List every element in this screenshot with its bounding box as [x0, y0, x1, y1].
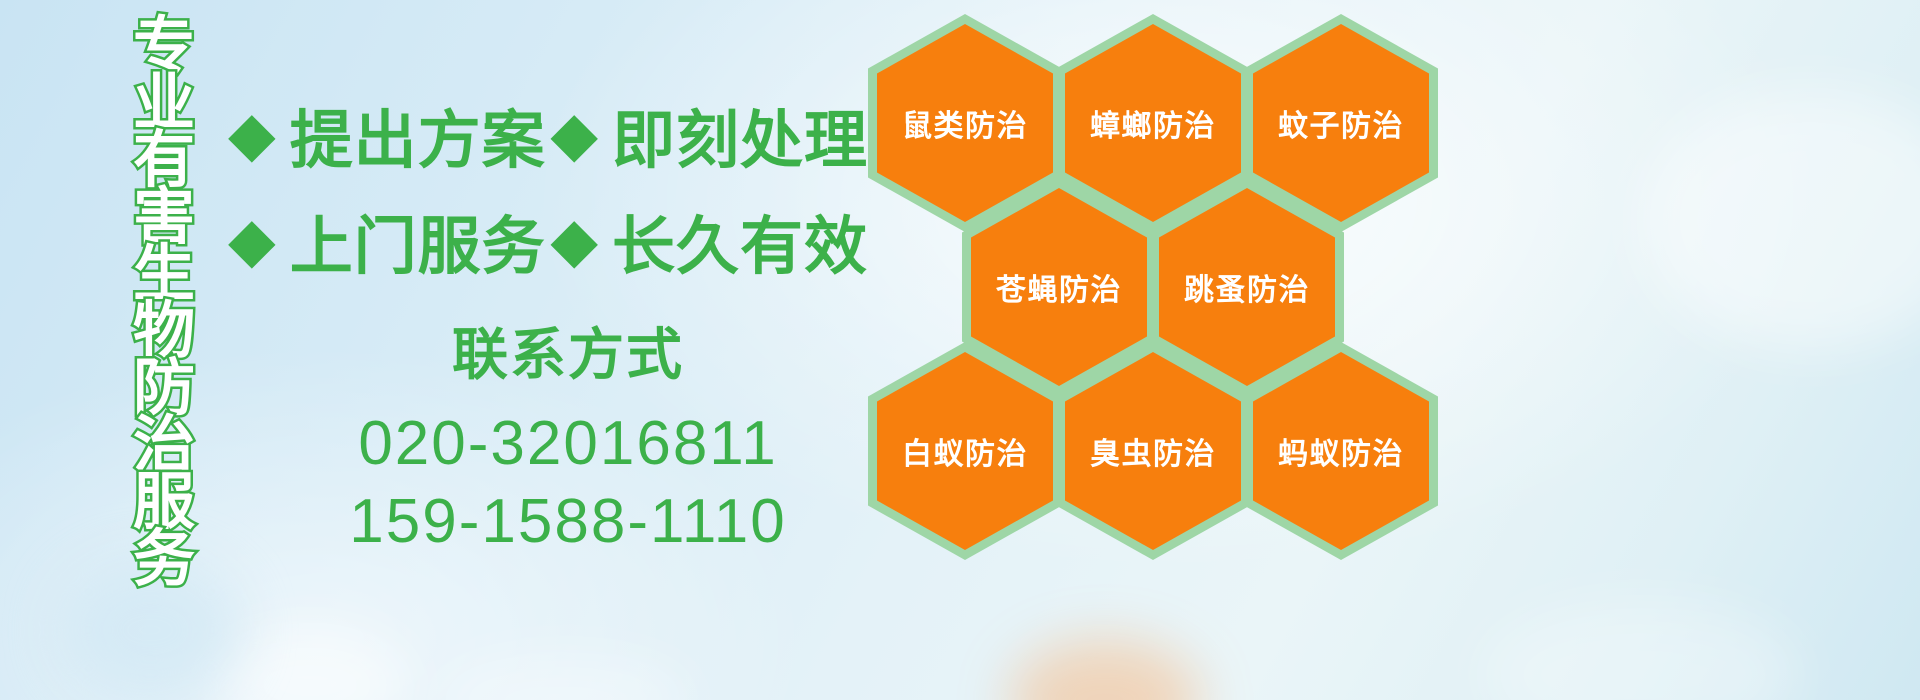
background-bokeh-blob [1010, 640, 1200, 700]
hex-label: 蚂蚁防治 [1278, 429, 1404, 473]
hex-inner: 臭虫防治 [1065, 352, 1241, 550]
hex-label: 蟑螂防治 [1090, 101, 1216, 145]
background-bokeh-blob [1480, 600, 1800, 700]
hex-label: 白蚁防治 [902, 429, 1028, 473]
diamond-icon: ◆ [228, 104, 276, 166]
hex-inner: 蚂蚁防治 [1253, 352, 1429, 550]
feature-label: 即刻处理 [612, 90, 868, 181]
hex-inner: 鼠类防治 [877, 24, 1053, 222]
contact-phone-landline[interactable]: 020-32016811 [268, 405, 868, 483]
hex-label: 蚊子防治 [1278, 101, 1404, 145]
vertical-slogan-char: 业 [133, 75, 195, 132]
feature-row: ◆ 上门服务 ◆ 长久有效 [228, 188, 868, 294]
contact-block: 联系方式 020-32016811 159-1588-1110 [268, 310, 868, 560]
vertical-slogan-char: 生 [133, 246, 195, 303]
hex-inner: 白蚁防治 [877, 352, 1053, 550]
service-hexagon-grid: 鼠类防治 蟑螂防治 蚊子防治 苍蝇防治 跳蚤防治 白蚁防治 [860, 6, 1450, 548]
background-bokeh-blob [210, 630, 410, 700]
background-bokeh-blob [430, 655, 690, 700]
hex-inner: 蚊子防治 [1253, 24, 1429, 222]
vertical-slogan-char: 有 [133, 132, 195, 189]
feature-row: ◆ 提出方案 ◆ 即刻处理 [228, 82, 868, 188]
feature-item-propose-plan: ◆ 提出方案 [228, 90, 546, 181]
hex-label: 苍蝇防治 [996, 265, 1122, 309]
contact-title: 联系方式 [268, 310, 868, 391]
hex-label: 鼠类防治 [902, 101, 1028, 145]
hex-label: 臭虫防治 [1090, 429, 1216, 473]
feature-item-door-to-door-service: ◆ 上门服务 [228, 196, 546, 287]
vertical-slogan-char: 服 [133, 474, 195, 531]
feature-label: 上门服务 [290, 196, 546, 287]
feature-list: ◆ 提出方案 ◆ 即刻处理 ◆ 上门服务 ◆ 长久有效 [228, 82, 868, 294]
diamond-icon: ◆ [228, 210, 276, 272]
hex-label: 跳蚤防治 [1184, 265, 1310, 309]
feature-item-long-lasting-effect: ◆ 长久有效 [550, 196, 868, 287]
vertical-slogan-char: 专 [133, 18, 195, 75]
pest-control-banner: 专 业 有 害 生 物 防 治 服 务 ◆ 提出方案 ◆ 即刻处理 ◆ 上门服务 [0, 0, 1920, 700]
vertical-slogan-char: 防 [133, 360, 195, 417]
feature-label: 长久有效 [612, 196, 868, 287]
hex-inner: 苍蝇防治 [971, 188, 1147, 386]
vertical-slogan-char: 务 [133, 531, 195, 588]
background-highlight-blob [1640, 90, 1920, 350]
diamond-icon: ◆ [550, 210, 598, 272]
feature-item-immediate-handling: ◆ 即刻处理 [550, 90, 868, 181]
hex-inner: 跳蚤防治 [1159, 188, 1335, 386]
diamond-icon: ◆ [550, 104, 598, 166]
vertical-slogan-char: 物 [133, 303, 195, 360]
hex-inner: 蟑螂防治 [1065, 24, 1241, 222]
contact-phone-mobile[interactable]: 159-1588-1110 [268, 483, 868, 561]
vertical-slogan: 专 业 有 害 生 物 防 治 服 务 [112, 18, 216, 548]
vertical-slogan-char: 害 [133, 189, 195, 246]
feature-label: 提出方案 [290, 90, 546, 181]
vertical-slogan-char: 治 [133, 417, 195, 474]
